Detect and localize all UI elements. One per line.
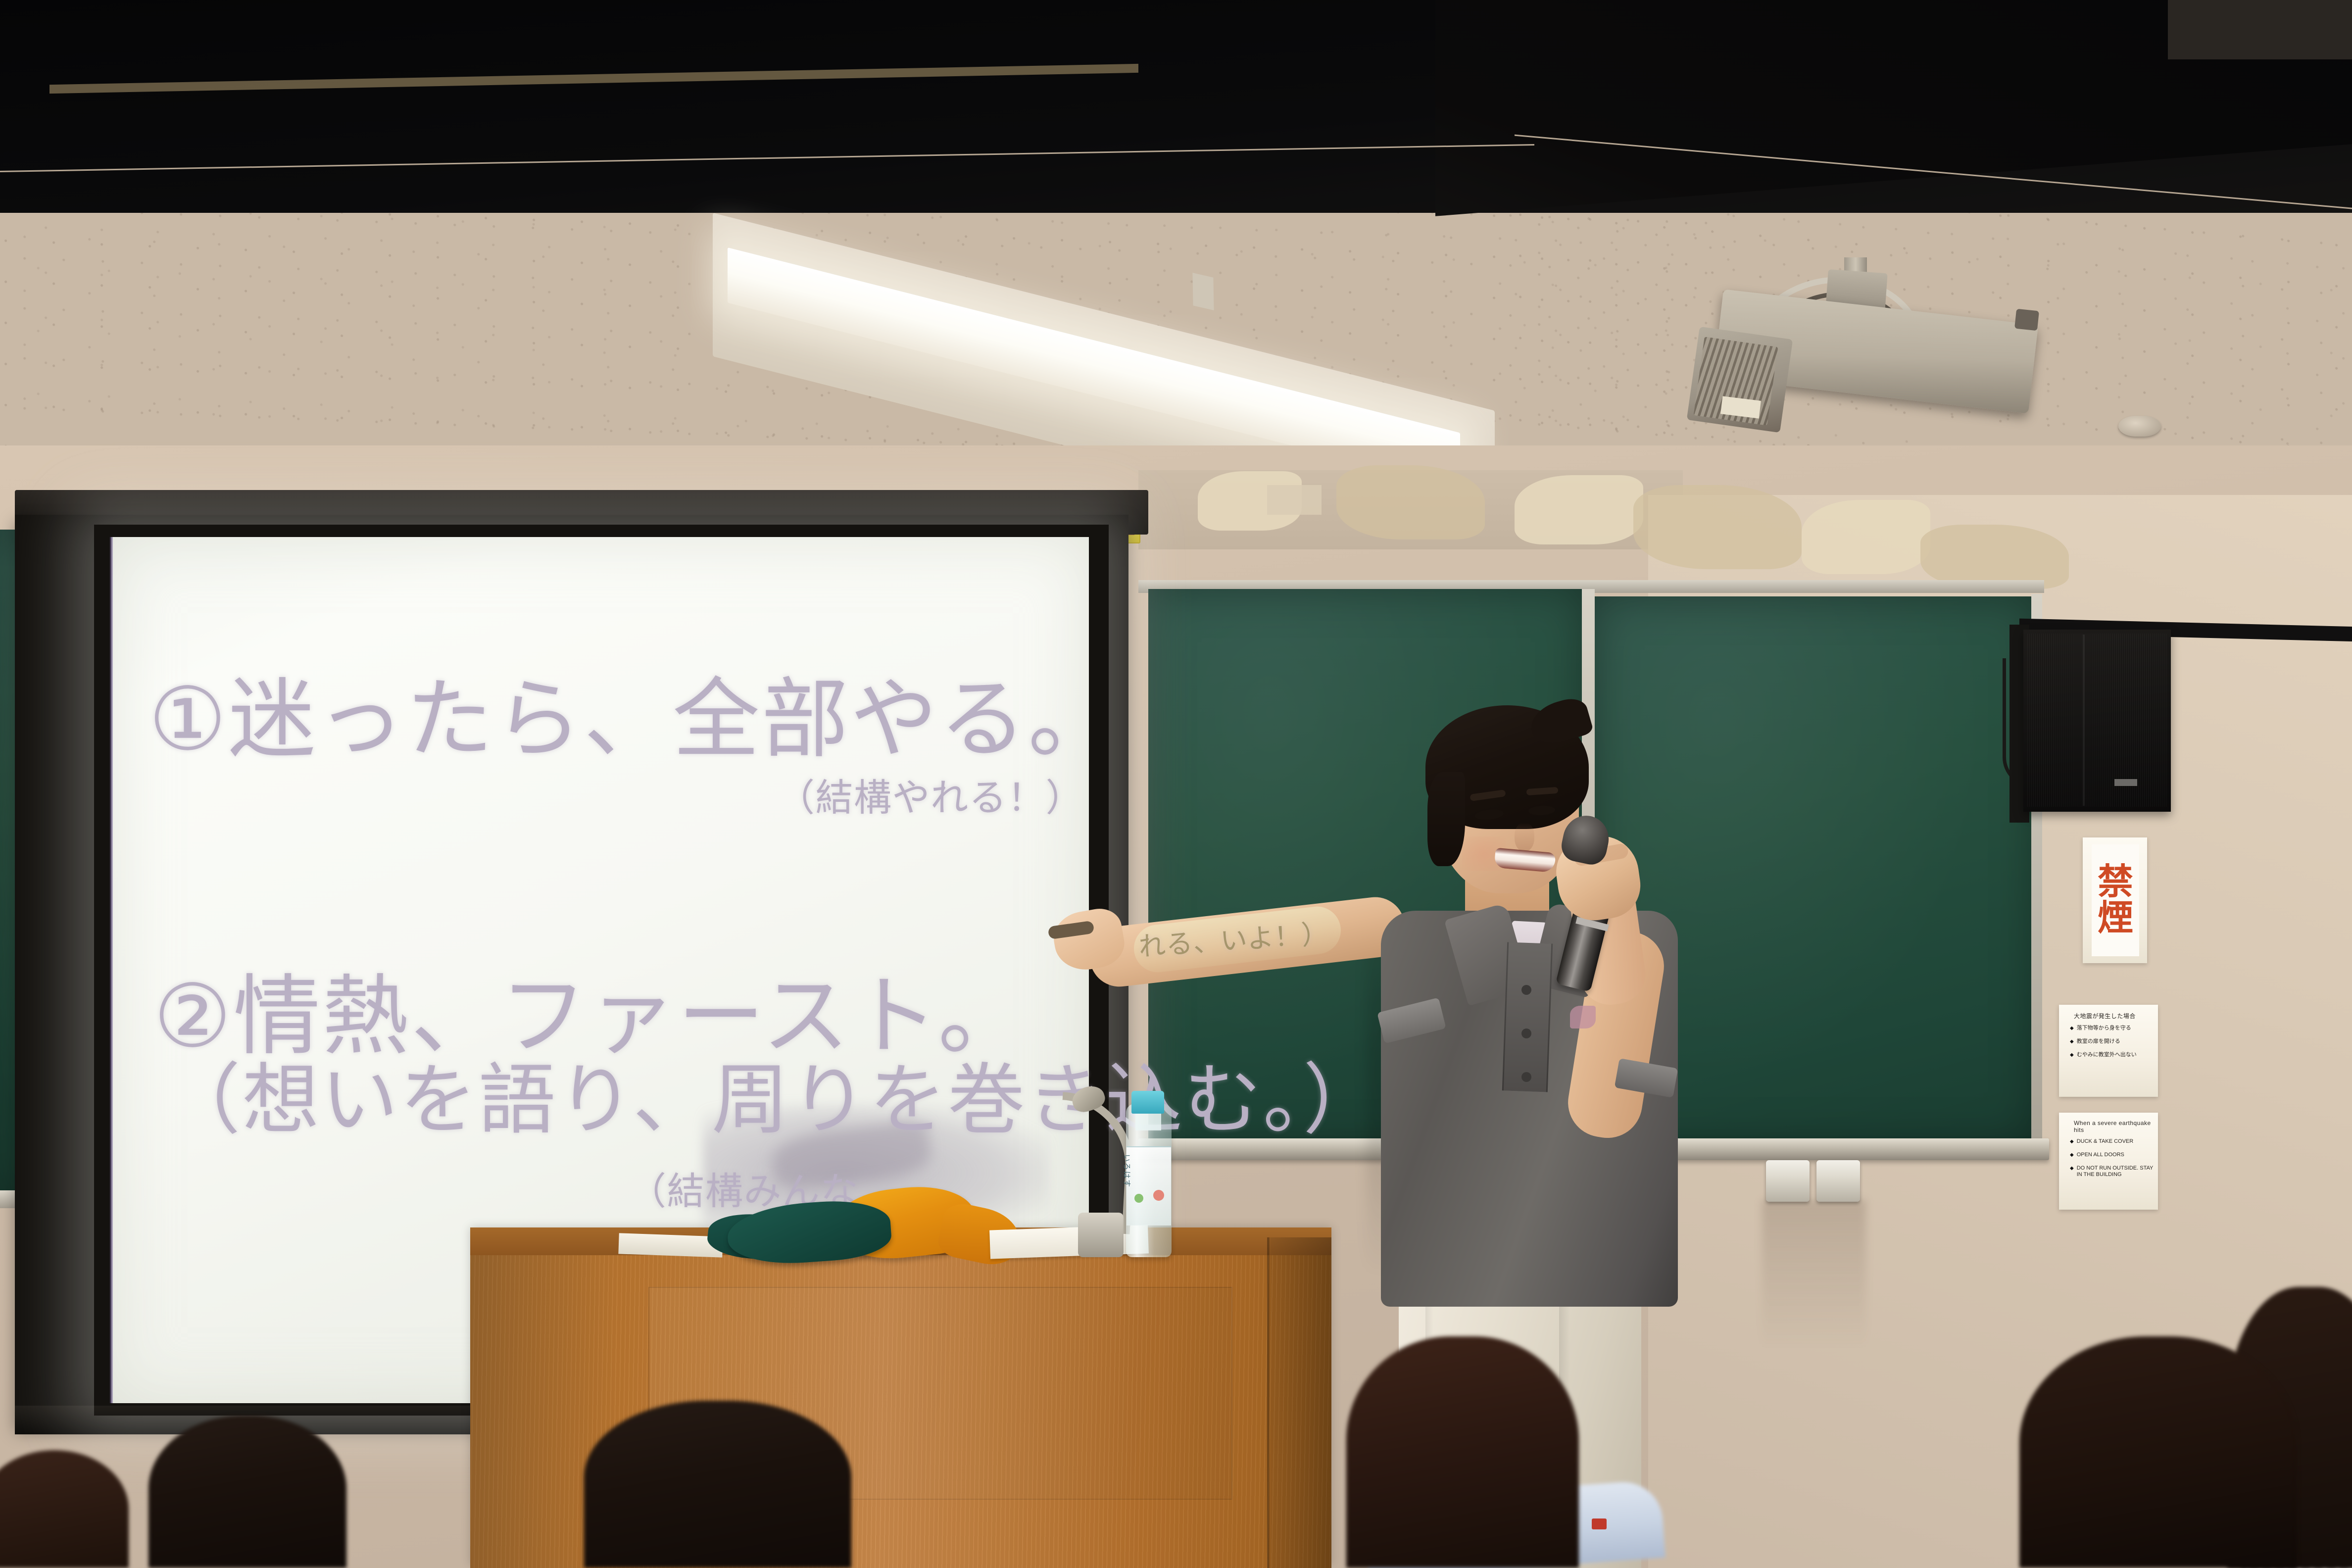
wall-paint-peel — [1802, 500, 1930, 574]
earthquake-en-heading: When a severe earthquake hits — [2074, 1120, 2158, 1133]
earthquake-en-bullet: ◆DUCK & TAKE COVER — [2070, 1138, 2158, 1145]
bullet-diamond-icon: ◆ — [2070, 1152, 2074, 1159]
bullet-diamond-icon: ◆ — [2070, 1052, 2074, 1059]
speaker-grille — [2027, 634, 2167, 807]
bullet-diamond-icon: ◆ — [2070, 1138, 2074, 1145]
presenter-shirt-placket — [1502, 942, 1553, 1092]
light-endcap — [1192, 273, 1214, 310]
earthquake-jp-bullet: ◆むやみに教室外へ出ない — [2070, 1052, 2158, 1059]
bullet-diamond-icon: ◆ — [2070, 1038, 2074, 1045]
shirt-button — [1521, 1029, 1531, 1038]
shirt-button — [1521, 1072, 1531, 1082]
bullet-diamond-icon: ◆ — [2070, 1025, 2074, 1032]
audience-head — [1346, 1336, 1579, 1568]
earthquake-en-bullet-text: OPEN ALL DOORS — [2077, 1152, 2124, 1159]
water-bottle-label-dot — [1134, 1194, 1143, 1203]
wall-paint-peel — [1336, 465, 1485, 539]
earthquake-poster-english: When a severe earthquake hits ◆DUCK & TA… — [2059, 1113, 2158, 1210]
gooseneck-microphone-base[interactable] — [1078, 1213, 1124, 1257]
screen-edge-fringe — [110, 537, 113, 1403]
no-smoking-poster-inner: 禁 煙 — [2092, 844, 2139, 956]
slide-item-2-subtext: （想いを語り、周りを巻き込む。） — [163, 1037, 1382, 1149]
audience-head — [2019, 1336, 2297, 1568]
ceiling-shadow-corner — [2168, 0, 2352, 59]
shirt-button — [1521, 985, 1531, 995]
chalkboard-eraser[interactable] — [1766, 1160, 1810, 1202]
presenter-sideburn — [1427, 772, 1465, 866]
wall-patch — [1267, 485, 1322, 515]
earthquake-jp-bullet-text: むやみに教室外へ出ない — [2077, 1052, 2137, 1059]
projector-knob — [2014, 309, 2039, 331]
water-bottle-cap[interactable] — [1131, 1091, 1164, 1114]
earthquake-jp-bullet-text: 落下物等から身を守る — [2077, 1025, 2131, 1032]
wall-paint-peel — [1633, 485, 1802, 569]
water-bottle-label — [1127, 1146, 1171, 1225]
earthquake-en-bullet-text: DUCK & TAKE COVER — [2077, 1138, 2134, 1145]
slide-item-1: ①迷ったら、全部やる。 — [148, 648, 1117, 775]
audience-head — [148, 1416, 346, 1568]
earthquake-jp-bullet: ◆教室の扉を開ける — [2070, 1038, 2158, 1045]
earthquake-en-bullet: ◆OPEN ALL DOORS — [2070, 1152, 2158, 1159]
speaker-seam — [2083, 635, 2085, 806]
earthquake-en-bullet-text: DO NOT RUN OUTSIDE. STAY IN THE BUILDING — [2077, 1165, 2158, 1179]
no-smoking-char-top: 禁 — [2098, 864, 2133, 900]
water-bottle-label-dot — [1153, 1190, 1164, 1201]
wall-paint-peel — [1920, 525, 2069, 589]
audience-head — [584, 1401, 851, 1568]
smoke-detector-icon — [2118, 416, 2161, 437]
earthquake-poster-japanese: 大地震が発生した場合 ◆落下物等から身を守る ◆教室の扉を開ける ◆むやみに教室… — [2059, 1005, 2158, 1097]
earthquake-jp-heading: 大地震が発生した場合 — [2074, 1012, 2158, 1020]
earthquake-jp-bullet: ◆落下物等から身を守る — [2070, 1025, 2158, 1032]
speaker-badge — [2114, 779, 2137, 786]
chalkboard-eraser[interactable] — [1816, 1160, 1860, 1202]
shirt-logo — [1570, 1006, 1596, 1029]
wall-paint-peel — [1515, 475, 1643, 544]
earthquake-en-bullet: ◆DO NOT RUN OUTSIDE. STAY IN THE BUILDIN… — [2070, 1165, 2158, 1179]
audience-shirt-logo — [1592, 1519, 1607, 1529]
slide-item-1-note: （結構やれる！） — [777, 767, 1084, 822]
water-bottle-neck — [1135, 1111, 1161, 1130]
eraser-shadow — [1762, 1200, 1866, 1348]
podium-right-face — [1270, 1237, 1331, 1568]
no-smoking-char-bottom: 煙 — [2098, 900, 2133, 936]
water-bottle-label-text: いろはす — [1122, 1154, 1132, 1188]
lecture-hall-scene: 禁 煙 大地震が発生した場合 ◆落下物等から身を守る ◆教室の扉を開ける ◆むや… — [0, 0, 2352, 1568]
earthquake-jp-bullet-text: 教室の扉を開ける — [2077, 1038, 2120, 1045]
podium-corner-seam — [1267, 1237, 1270, 1568]
bullet-diamond-icon: ◆ — [2070, 1165, 2074, 1179]
presenter-nose — [1515, 823, 1534, 851]
